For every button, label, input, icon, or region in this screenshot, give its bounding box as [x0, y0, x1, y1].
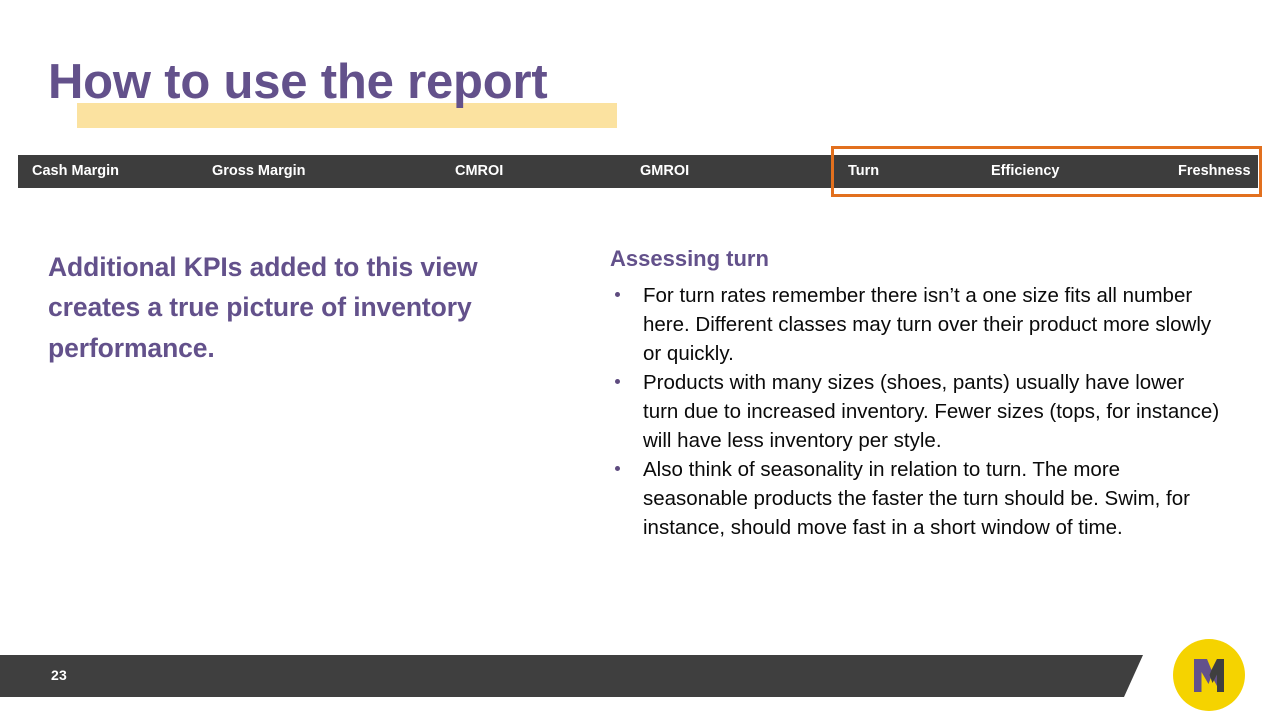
- brand-logo: [1173, 639, 1245, 711]
- list-item: Products with many sizes (shoes, pants) …: [610, 368, 1225, 455]
- list-item: Also think of seasonality in relation to…: [610, 455, 1225, 542]
- kpi-tab-cash-margin[interactable]: Cash Margin: [32, 155, 119, 188]
- page-title: How to use the report: [48, 55, 547, 110]
- bullet-dot-icon: [615, 379, 620, 384]
- kpi-tab-gross-margin[interactable]: Gross Margin: [212, 155, 305, 188]
- bullet-list: For turn rates remember there isn’t a on…: [610, 281, 1225, 543]
- kpi-tab-turn[interactable]: Turn: [848, 155, 879, 188]
- list-item: For turn rates remember there isn’t a on…: [610, 281, 1225, 368]
- slide-title-block: How to use the report: [0, 55, 1280, 140]
- footer-bar: [0, 655, 1143, 697]
- logo-circle-m-icon: [1173, 639, 1245, 711]
- kpi-tab-freshness[interactable]: Freshness: [1178, 155, 1251, 188]
- page-number: 23: [51, 667, 67, 683]
- list-item-text: Also think of seasonality in relation to…: [643, 458, 1190, 539]
- kpi-tab-cmroi[interactable]: CMROI: [455, 155, 503, 188]
- section-heading: Assessing turn: [610, 245, 1225, 274]
- kpi-navbar[interactable]: Cash MarginGross MarginCMROIGMROITurnEff…: [18, 155, 1258, 188]
- kpi-tab-gmroi[interactable]: GMROI: [640, 155, 689, 188]
- bullet-dot-icon: [615, 292, 620, 297]
- left-column: Additional KPIs added to this view creat…: [48, 247, 548, 368]
- kpi-tab-efficiency[interactable]: Efficiency: [991, 155, 1060, 188]
- bullet-dot-icon: [615, 466, 620, 471]
- kpi-statement: Additional KPIs added to this view creat…: [48, 247, 548, 368]
- list-item-text: For turn rates remember there isn’t a on…: [643, 284, 1211, 365]
- right-column: Assessing turn For turn rates remember t…: [610, 245, 1225, 543]
- list-item-text: Products with many sizes (shoes, pants) …: [643, 371, 1219, 452]
